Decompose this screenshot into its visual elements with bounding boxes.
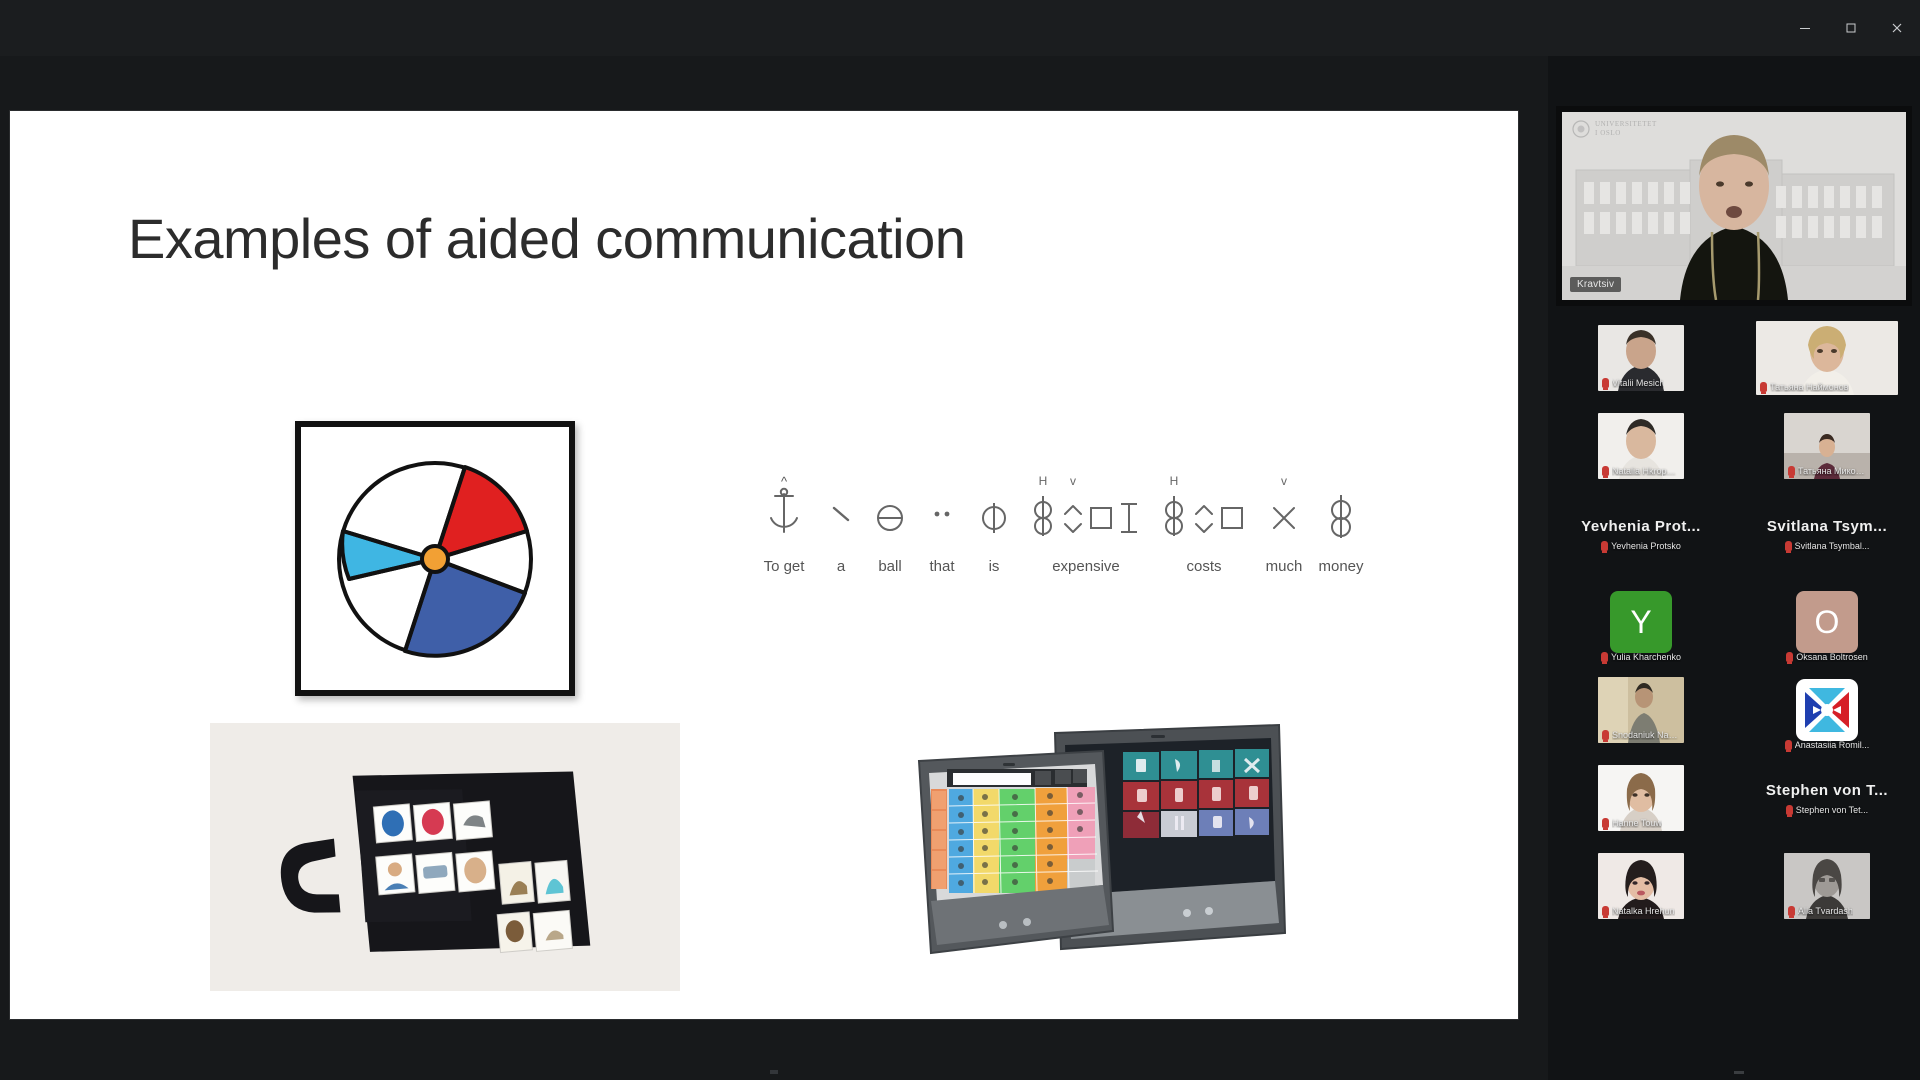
stage-scroll-indicator <box>770 1070 778 1074</box>
avatar: Y <box>1610 591 1672 653</box>
bliss-glyph-a <box>818 470 864 544</box>
participant-tile[interactable]: Alla Tvardash <box>1734 842 1920 930</box>
participant-name: Anastasiia Romil... <box>1795 740 1870 750</box>
participant-tile[interactable]: Татьяна Наймонов <box>1734 314 1920 402</box>
communication-book-photo <box>210 723 680 991</box>
bliss-gloss: money <box>1312 558 1370 575</box>
bliss-gloss: To get <box>750 558 818 575</box>
participant-video: Hanne Touw <box>1598 765 1684 831</box>
avatar <box>1796 679 1858 741</box>
participant-name: Yevhenia Protsko <box>1611 541 1681 551</box>
mic-muted-icon <box>1760 382 1767 392</box>
mic-muted-icon <box>1786 805 1793 815</box>
participant-tile[interactable]: Natalia Hkropakha <box>1548 402 1734 490</box>
bliss-gloss: a <box>818 558 864 575</box>
participant-name: Snodaniuk Natalia <box>1612 730 1680 740</box>
participant-name: Yulia Kharchenko <box>1611 652 1681 662</box>
blissymbolics-sentence: ^ <box>750 466 1370 575</box>
participant-name: Alla Tvardash <box>1798 906 1853 916</box>
mic-muted-icon <box>1785 541 1792 551</box>
participant-tile[interactable]: Hanne Touw <box>1548 754 1734 842</box>
participant-rail: UNIVERSITETET I OSLO Kravtsiv <box>1548 56 1920 1080</box>
participant-name-row: Yulia Kharchenko <box>1548 652 1734 662</box>
participant-name: Stephen von Tet... <box>1796 805 1868 815</box>
bliss-glyph-row: ^ <box>750 466 1370 544</box>
participant-tile[interactable]: Татьяна Миколай ... <box>1734 402 1920 490</box>
bliss-glyph-that <box>916 470 968 544</box>
participant-name-row: Stephen von Tet... <box>1786 805 1868 815</box>
participant-name: Vitalii Mesich <box>1612 378 1664 388</box>
participant-tile[interactable]: Stephen von T... Stephen von Tet... <box>1734 754 1920 842</box>
mic-muted-icon <box>1602 818 1609 828</box>
minimize-button[interactable] <box>1782 11 1828 45</box>
participant-name-row: Alla Tvardash <box>1788 906 1853 916</box>
window-titlebar <box>0 0 1920 56</box>
participant-avatar: Y <box>1610 591 1672 653</box>
active-speaker-video: UNIVERSITETET I OSLO Kravtsiv <box>1562 112 1906 300</box>
rail-scroll-indicator <box>1734 1071 1744 1074</box>
bliss-glyph-much: v <box>1256 470 1312 544</box>
mic-muted-icon <box>1788 906 1795 916</box>
participant-tile[interactable]: Vitalii Mesich <box>1548 314 1734 402</box>
participant-tile[interactable]: Anastasiia Romil... <box>1734 666 1920 754</box>
bliss-glyph-money <box>1312 470 1370 544</box>
participant-name-row: Vitalii Mesich <box>1602 378 1664 388</box>
presentation-slide: Examples of aided communication <box>10 111 1518 1019</box>
svg-text:v: v <box>1070 474 1076 488</box>
participant-name-row: Natalia Hkropakha <box>1602 466 1680 476</box>
mic-muted-icon <box>1602 906 1609 916</box>
bliss-glyph-ball <box>864 470 916 544</box>
beach-ball-icon <box>317 443 553 671</box>
participant-name: Татьяна Наймонов <box>1770 382 1849 392</box>
participant-video: Alla Tvardash <box>1784 853 1870 919</box>
participant-video: Vitalii Mesich <box>1598 325 1684 391</box>
participant-grid: Vitalii Mesich Татьяна Наймонов <box>1548 314 1920 930</box>
participant-video: Natalia Hkropakha <box>1598 413 1684 479</box>
participant-avatar: O <box>1796 591 1858 653</box>
close-button[interactable] <box>1874 11 1920 45</box>
svg-text:v: v <box>1281 474 1287 488</box>
bliss-glyph-costs: H <box>1152 470 1256 544</box>
participant-name-row: Татьяна Наймонов <box>1760 382 1849 392</box>
participant-name-row: Natalka Hrehun <box>1602 906 1675 916</box>
bliss-glyph-expensive: H v <box>1020 470 1152 544</box>
participant-name: Oksana Boltrosen <box>1796 652 1868 662</box>
mic-muted-icon <box>1785 740 1792 750</box>
zoom-meeting-window: Examples of aided communication <box>0 0 1920 1080</box>
mic-muted-icon <box>1786 652 1793 662</box>
participant-tile[interactable]: Natalka Hrehun <box>1548 842 1734 930</box>
restore-button[interactable] <box>1828 11 1874 45</box>
active-speaker-tile[interactable]: UNIVERSITETET I OSLO Kravtsiv <box>1556 106 1912 306</box>
participant-name-row: Yevhenia Protsko <box>1601 541 1681 551</box>
participant-name: Natalia Hkropakha <box>1612 466 1680 476</box>
bliss-gloss: ball <box>864 558 916 575</box>
participant-display-name: Stephen von T... <box>1766 782 1888 799</box>
bliss-glyph-is <box>968 470 1020 544</box>
participant-display-name: Yevhenia Prot... <box>1581 518 1701 535</box>
participant-name: Hanne Touw <box>1612 818 1662 828</box>
mic-muted-icon <box>1602 730 1609 740</box>
bliss-gloss-row: To get a ball that is expensive costs mu… <box>750 558 1370 575</box>
active-speaker-name: Kravtsiv <box>1570 277 1621 292</box>
participant-name: Татьяна Миколай ... <box>1798 466 1866 476</box>
participant-name-row: Hanne Touw <box>1602 818 1662 828</box>
bliss-gloss: much <box>1256 558 1312 575</box>
bliss-gloss: that <box>916 558 968 575</box>
mic-muted-icon <box>1601 541 1608 551</box>
participant-video: Татьяна Миколай ... <box>1784 413 1870 479</box>
active-speaker-person <box>1562 112 1906 300</box>
participant-name: Svitlana Tsymbal... <box>1795 541 1870 551</box>
svg-text:H: H <box>1039 474 1048 488</box>
beach-ball-pictogram <box>295 421 575 696</box>
svg-text:H: H <box>1170 474 1179 488</box>
participant-tile[interactable]: Snodaniuk Natalia <box>1548 666 1734 754</box>
participant-name-row: Svitlana Tsymbal... <box>1785 541 1870 551</box>
participant-video: Snodaniuk Natalia <box>1598 677 1684 743</box>
participant-tile[interactable]: Yevhenia Prot... Yevhenia Protsko <box>1548 490 1734 578</box>
mic-muted-icon <box>1602 466 1609 476</box>
participant-tile[interactable]: Svitlana Tsym... Svitlana Tsymbal... <box>1734 490 1920 578</box>
brand-logo-icon <box>1799 682 1855 738</box>
participant-name-row: Татьяна Миколай ... <box>1788 466 1866 476</box>
participant-tile[interactable]: O Oksana Boltrosen <box>1734 578 1920 666</box>
mic-muted-icon <box>1788 466 1795 476</box>
bliss-glyph-to-get: ^ <box>750 470 818 544</box>
participant-name-row: Oksana Boltrosen <box>1734 652 1920 662</box>
participant-video: Татьяна Наймонов <box>1756 321 1898 395</box>
participant-display-name: Svitlana Tsym... <box>1767 518 1887 535</box>
shared-screen-stage: Examples of aided communication <box>0 56 1548 1080</box>
mic-muted-icon <box>1601 652 1608 662</box>
participant-avatar <box>1796 679 1858 741</box>
participant-name-row: Snodaniuk Natalia <box>1602 730 1680 740</box>
participant-name: Natalka Hrehun <box>1612 906 1675 916</box>
bliss-gloss: is <box>968 558 1020 575</box>
participant-name-row: Anastasiia Romil... <box>1734 740 1920 750</box>
svg-text:^: ^ <box>781 474 788 489</box>
participant-video: Natalka Hrehun <box>1598 853 1684 919</box>
bliss-gloss: costs <box>1152 558 1256 575</box>
bliss-gloss: expensive <box>1020 558 1152 575</box>
aac-devices-photo <box>875 719 1305 989</box>
avatar: O <box>1796 591 1858 653</box>
participant-tile[interactable]: Y Yulia Kharchenko <box>1548 578 1734 666</box>
mic-muted-icon <box>1602 378 1609 388</box>
page-title: Examples of aided communication <box>128 206 965 271</box>
